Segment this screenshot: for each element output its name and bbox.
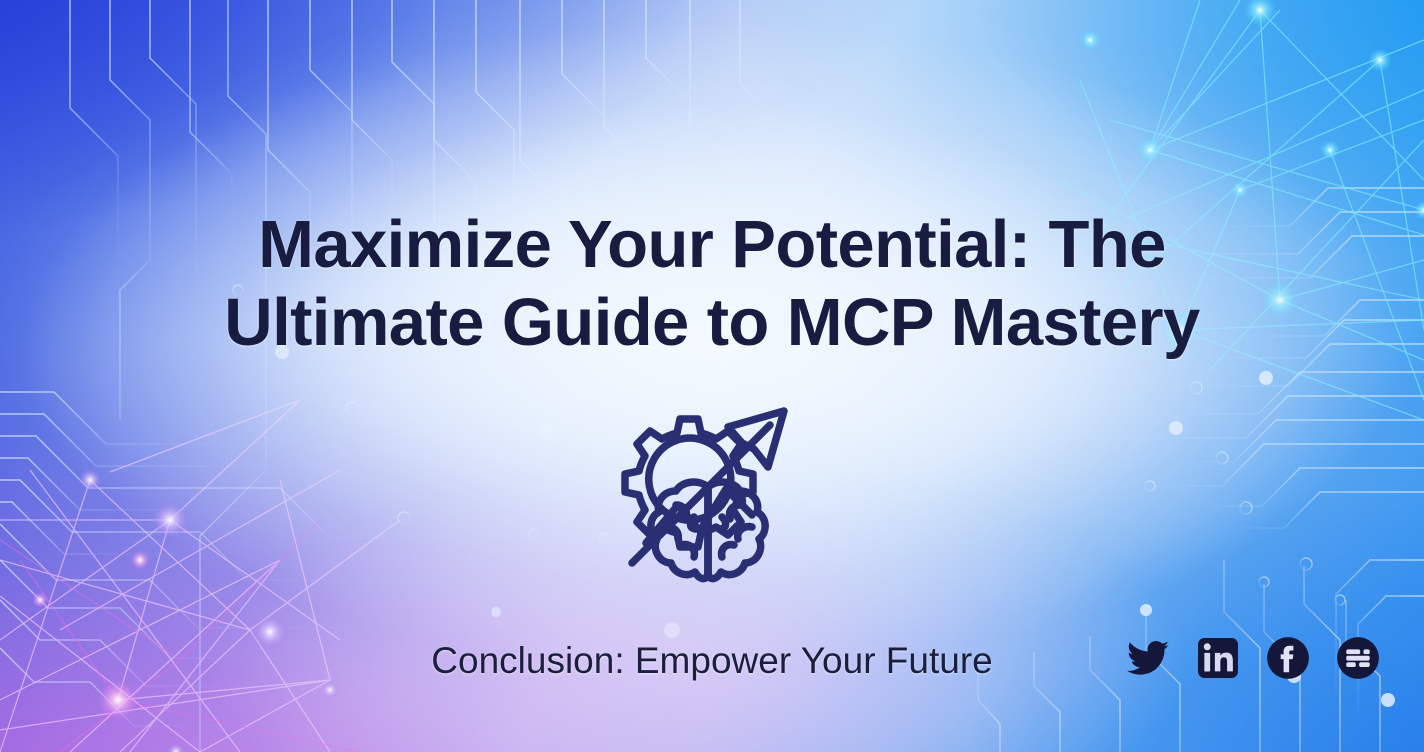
linkedin-icon[interactable] bbox=[1194, 634, 1242, 682]
promo-slide: Maximize Your Potential: The Ultimate Gu… bbox=[0, 0, 1424, 752]
page-title: Maximize Your Potential: The Ultimate Gu… bbox=[0, 206, 1424, 362]
facebook-icon[interactable] bbox=[1264, 634, 1312, 682]
gear-brain-growth-arrow-icon bbox=[602, 393, 822, 603]
page-title-line-2: Ultimate Guide to MCP Mastery bbox=[150, 284, 1274, 362]
social-links bbox=[1124, 634, 1382, 682]
slide-content: Maximize Your Potential: The Ultimate Gu… bbox=[0, 0, 1424, 752]
twitter-icon[interactable] bbox=[1124, 634, 1172, 682]
blog-feed-icon[interactable] bbox=[1334, 634, 1382, 682]
page-title-line-1: Maximize Your Potential: The bbox=[150, 206, 1274, 284]
